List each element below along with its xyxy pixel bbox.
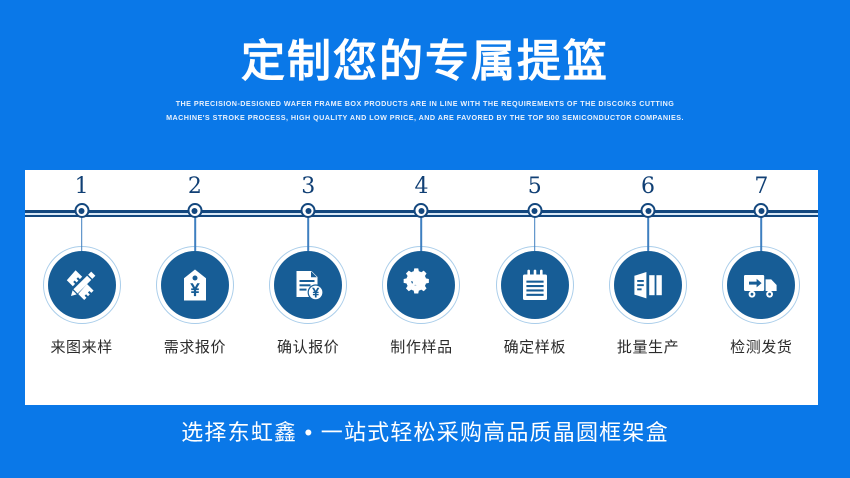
promo-banner: 定制您的专属提篮 THE PRECISION-DESIGNED WAFER FR… xyxy=(0,0,850,478)
process-step-7: 检测发货 xyxy=(705,246,818,358)
process-steps: 来图来样 xyxy=(25,246,818,358)
step-number: 3 xyxy=(301,174,315,199)
icon-disc xyxy=(501,251,569,319)
footer-slogan: 选择东虹鑫 • 一站式轻松采购高品质晶圆框架盒 xyxy=(181,420,669,445)
banner-footer: 选择东虹鑫 • 一站式轻松采购高品质晶圆框架盒 xyxy=(0,418,850,448)
timeline-dot-icon xyxy=(301,203,316,218)
step-label: 确认报价 xyxy=(252,338,365,358)
icon-disc xyxy=(727,251,795,319)
subtitle-text: THE PRECISION-DESIGNED WAFER FRAME BOX P… xyxy=(155,88,695,124)
step-label: 需求报价 xyxy=(138,338,251,358)
timeline-connector-line xyxy=(307,217,309,251)
timeline-marker xyxy=(705,203,818,250)
process-step-6: 批量生产 xyxy=(591,246,704,358)
step-number: 6 xyxy=(641,174,655,199)
process-step-1: 来图来样 xyxy=(25,246,138,358)
step-icon-wrapper xyxy=(269,246,347,324)
timeline-connector-line xyxy=(194,217,196,251)
timeline-markers-row xyxy=(25,203,818,250)
timeline-dot-icon xyxy=(754,203,769,218)
invoice-yuan-icon xyxy=(288,265,328,305)
timeline-dot-icon xyxy=(527,203,542,218)
step-icon-wrapper xyxy=(609,246,687,324)
process-step-3: 确认报价 xyxy=(252,246,365,358)
page-title: 定制您的专属提篮 xyxy=(0,0,850,88)
timeline-connector-line xyxy=(647,217,649,251)
delivery-truck-icon xyxy=(740,264,782,306)
banner-header: 定制您的专属提篮 THE PRECISION-DESIGNED WAFER FR… xyxy=(0,0,850,124)
timeline-dot-icon xyxy=(187,203,202,218)
step-label: 确定样板 xyxy=(478,338,591,358)
step-number: 1 xyxy=(75,174,89,199)
step-label: 制作样品 xyxy=(365,338,478,358)
step-label: 批量生产 xyxy=(591,338,704,358)
icon-disc xyxy=(161,251,229,319)
step-number: 5 xyxy=(528,174,542,199)
icon-disc xyxy=(274,251,342,319)
step-icon-wrapper xyxy=(156,246,234,324)
icon-disc xyxy=(614,251,682,319)
boxes-stack-icon xyxy=(628,265,668,305)
process-step-2: 需求报价 xyxy=(138,246,251,358)
gears-icon xyxy=(400,264,442,306)
timeline-dot-icon xyxy=(414,203,429,218)
timeline-marker xyxy=(252,203,365,250)
step-label: 来图来样 xyxy=(25,338,138,358)
step-icon-wrapper xyxy=(722,246,800,324)
icon-disc xyxy=(48,251,116,319)
timeline-dot-icon xyxy=(74,203,89,218)
pencil-ruler-icon xyxy=(62,265,102,305)
price-tag-yuan-icon xyxy=(175,265,215,305)
step-number: 4 xyxy=(414,174,428,199)
step-icon-wrapper xyxy=(496,246,574,324)
step-number: 7 xyxy=(754,174,768,199)
timeline-marker xyxy=(25,203,138,250)
process-step-4: 制作样品 xyxy=(365,246,478,358)
timeline-marker xyxy=(478,203,591,250)
timeline-connector-line xyxy=(81,217,83,251)
timeline-connector-line xyxy=(421,217,423,251)
icon-disc xyxy=(387,251,455,319)
notepad-icon xyxy=(515,265,555,305)
timeline-marker xyxy=(591,203,704,250)
timeline-marker xyxy=(365,203,478,250)
timeline-dot-icon xyxy=(641,203,656,218)
process-timeline: 1 2 3 4 5 6 7 xyxy=(25,170,818,250)
timeline-connector-line xyxy=(534,217,536,251)
process-panel: 1 2 3 4 5 6 7 xyxy=(25,170,818,405)
step-number: 2 xyxy=(188,174,202,199)
step-icon-wrapper xyxy=(43,246,121,324)
step-icon-wrapper xyxy=(382,246,460,324)
process-step-5: 确定样板 xyxy=(478,246,591,358)
timeline-connector-line xyxy=(761,217,763,251)
step-label: 检测发货 xyxy=(705,338,818,358)
timeline-marker xyxy=(138,203,251,250)
